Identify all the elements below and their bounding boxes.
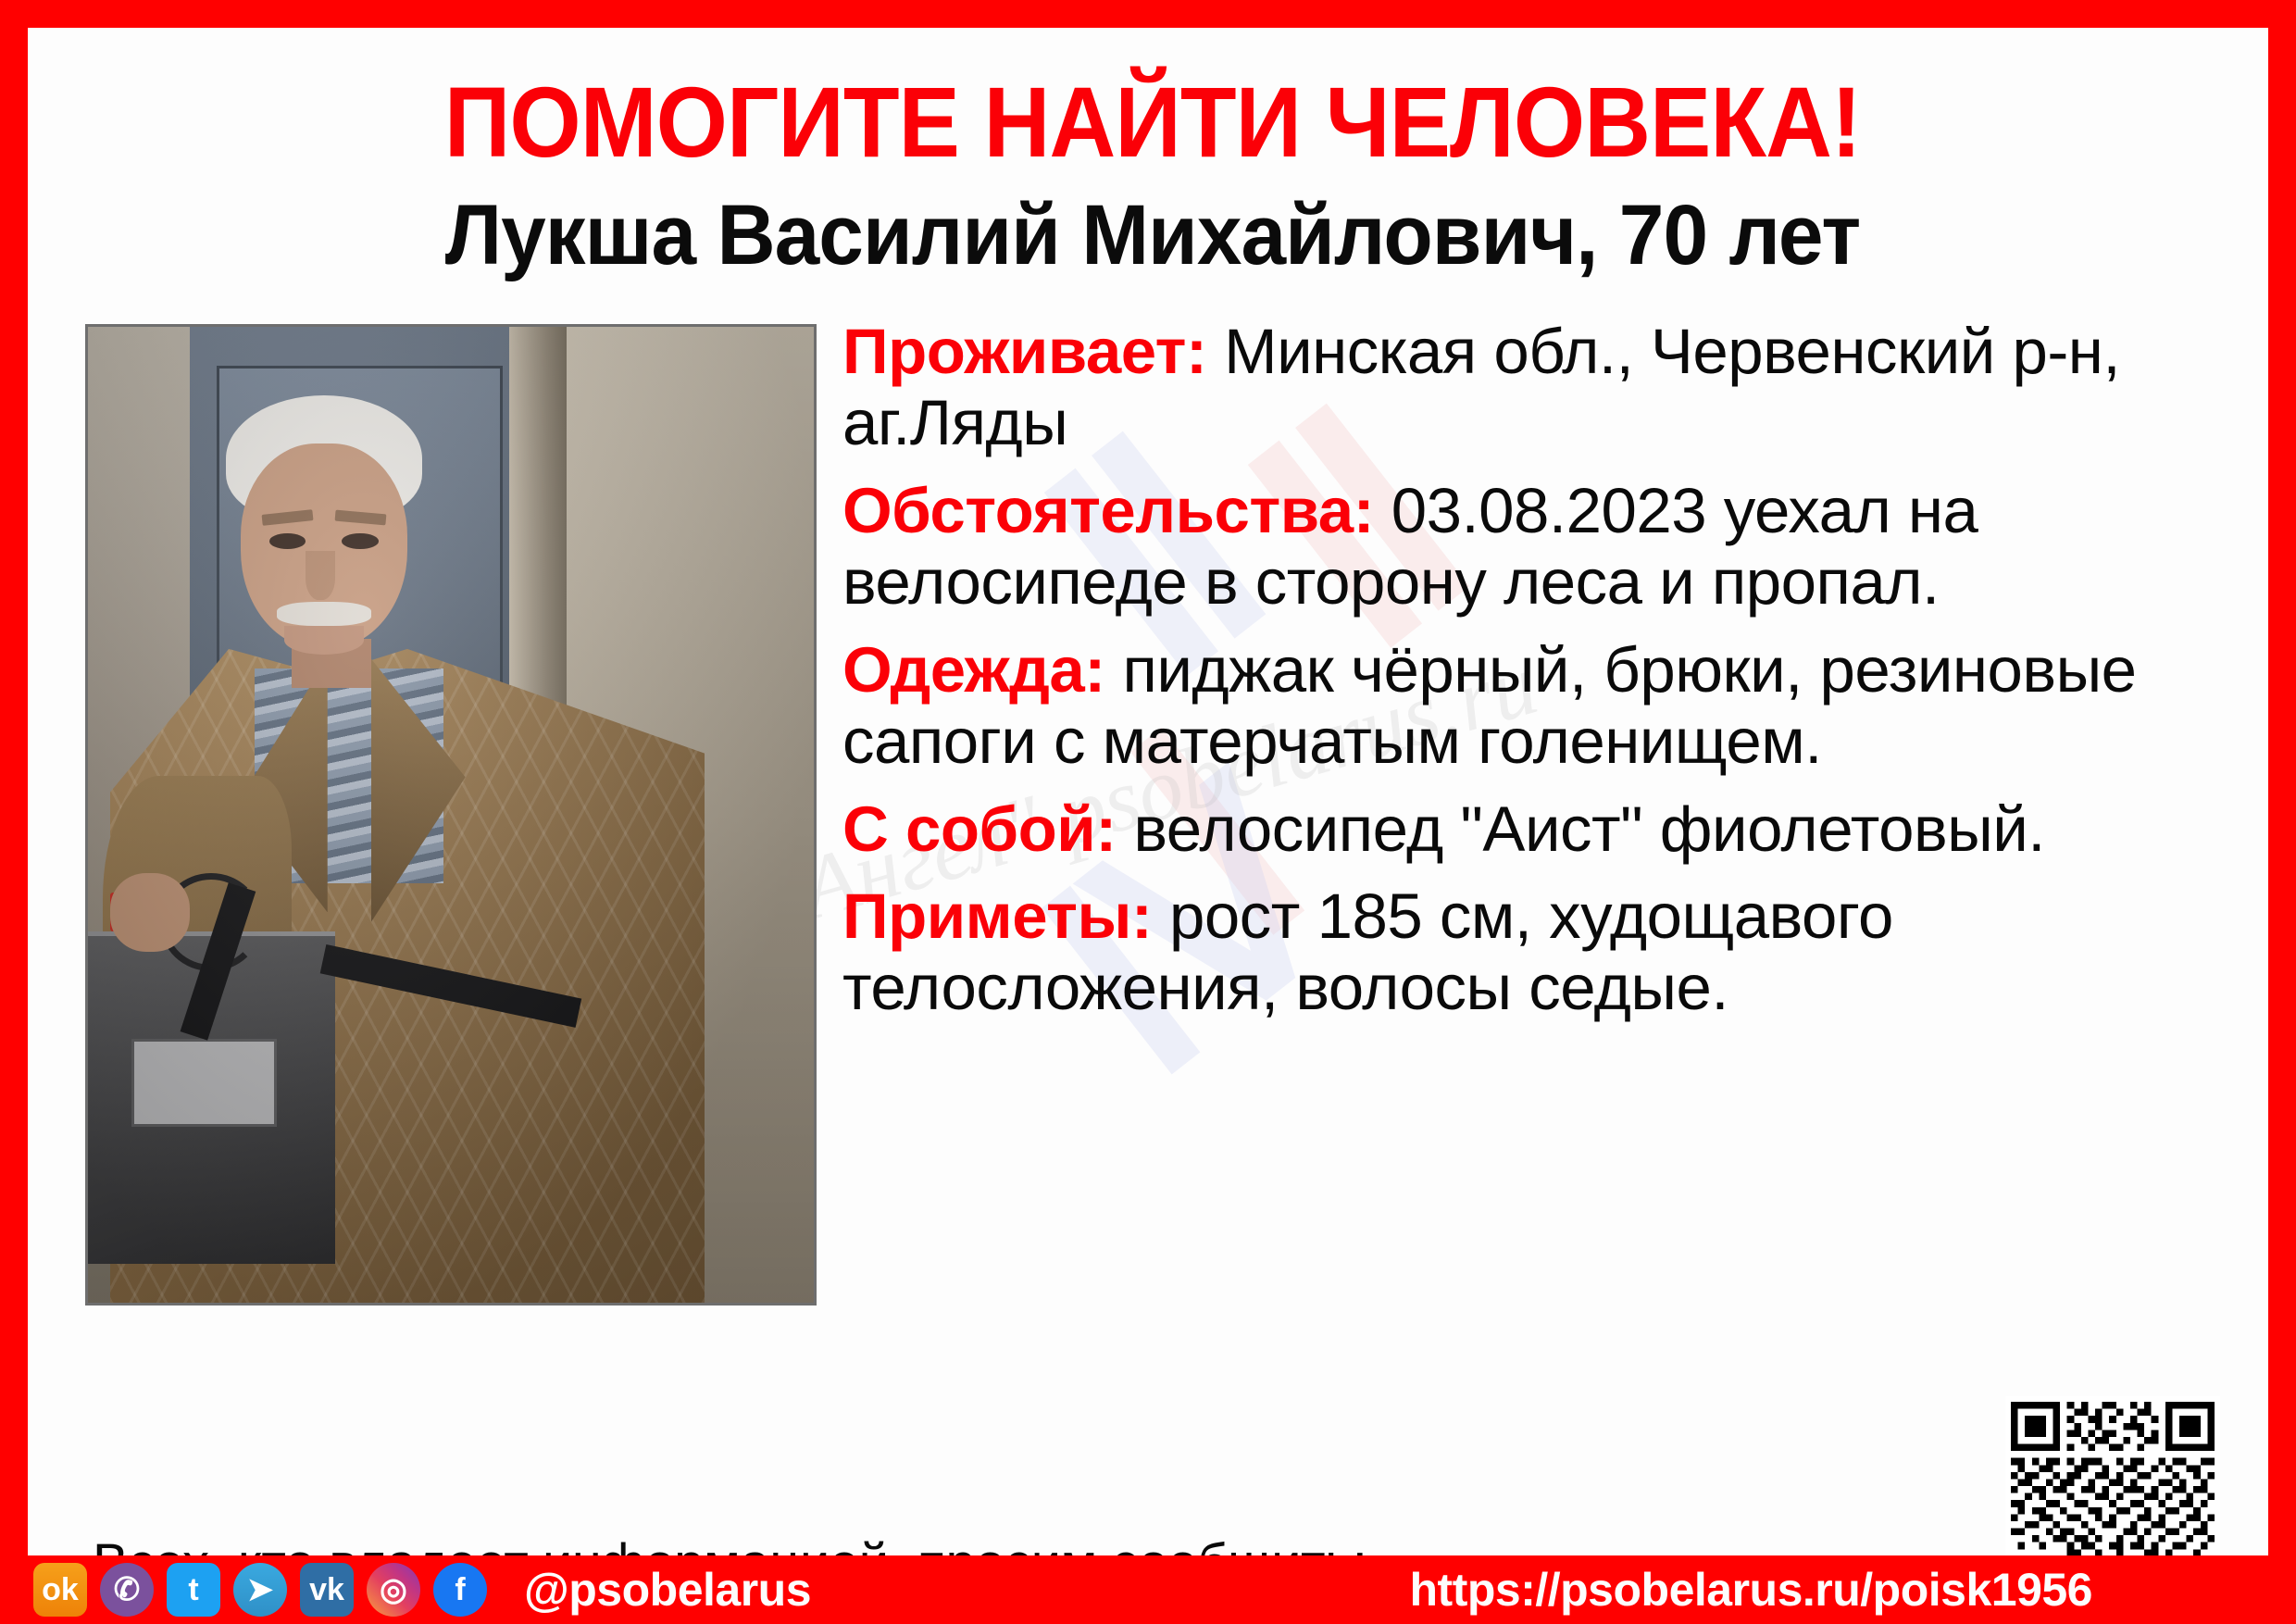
missing-person-poster: Ⅱ Ⅱ Ⅰ Ⅳ ПСО "Ангел" psobelarus.ru ПОМОГИ… xyxy=(0,0,2296,1624)
detail-row-features: Приметы: рост 185 см, худощавого телосло… xyxy=(842,881,2250,1024)
instagram-icon[interactable]: ◎ xyxy=(367,1563,420,1617)
detail-row-residence: Проживает: Минская обл., Червенский р-н,… xyxy=(842,317,2250,459)
detail-label-residence: Проживает: xyxy=(842,316,1206,387)
telegram-icon[interactable]: ➤ xyxy=(233,1563,287,1617)
detail-label-belongings: С собой: xyxy=(842,793,1117,865)
detail-label-circumstances: Обстоятельства: xyxy=(842,475,1374,546)
detail-value-belongings: велосипед "Аист" фиолетовый. xyxy=(1117,793,2045,865)
details-block: Проживает: Минская обл., Червенский р-н,… xyxy=(842,317,2250,1041)
detail-row-belongings: С собой: велосипед "Аист" фиолетовый. xyxy=(842,794,2250,866)
twitter-icon[interactable]: t xyxy=(167,1563,220,1617)
detail-row-clothing: Одежда: пиджак чёрный, брюки, резиновые … xyxy=(842,635,2250,778)
person-name-age: Лукша Василий Михайлович, 70 лет xyxy=(128,193,2177,278)
page-title: ПОМОГИТЕ НАЙТИ ЧЕЛОВЕКА! xyxy=(160,72,2145,172)
call-to-action-text: Всех, кто владеет информацией, просим со… xyxy=(93,1530,1366,1555)
odnoklassniki-icon[interactable]: ok xyxy=(33,1563,87,1617)
website-url[interactable]: https://psobelarus.ru/poisk1956 xyxy=(1410,1563,2092,1617)
detail-label-clothing: Одежда: xyxy=(842,634,1105,706)
vk-icon[interactable]: vk xyxy=(300,1563,354,1617)
detail-row-circumstances: Обстоятельства: 03.08.2023 уехал на вело… xyxy=(842,476,2250,618)
footer-contact-block: Всех, кто владеет информацией, просим со… xyxy=(93,1461,1366,1555)
detail-label-features: Приметы: xyxy=(842,881,1152,952)
qr-code[interactable] xyxy=(2005,1396,2220,1555)
social-handle[interactable]: @psobelarus xyxy=(524,1563,811,1617)
missing-person-photo xyxy=(85,324,817,1305)
facebook-icon[interactable]: f xyxy=(433,1563,487,1617)
social-footer-bar: ok ✆ t ➤ vk ◎ f @psobelarus https://psob… xyxy=(0,1555,2296,1624)
qr-code-graphic xyxy=(2011,1402,2215,1555)
social-icons-group: ok ✆ t ➤ vk ◎ f @psobelarus xyxy=(0,1563,811,1617)
photo-shading xyxy=(88,327,814,1303)
poster-sheet: Ⅱ Ⅱ Ⅰ Ⅳ ПСО "Ангел" psobelarus.ru ПОМОГИ… xyxy=(28,28,2268,1555)
viber-icon[interactable]: ✆ xyxy=(100,1563,154,1617)
